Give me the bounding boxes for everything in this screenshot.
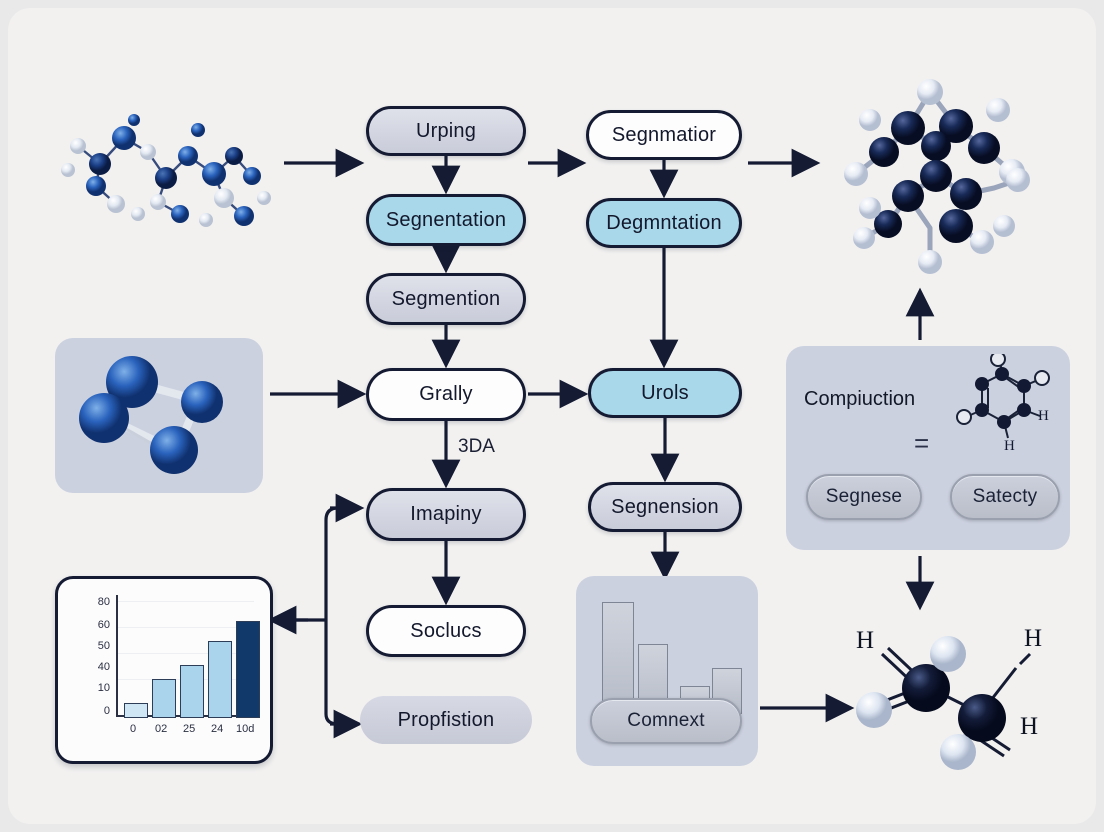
node-segnmatior[interactable]: Segnmatior [586, 110, 742, 160]
bar-0 [124, 703, 148, 718]
ytick-50: 50 [92, 640, 110, 652]
svg-text:H: H [856, 627, 874, 654]
molecule-chain-cluster [38, 86, 290, 256]
node-grally-label: Grally [419, 383, 472, 406]
ytick-80: 80 [92, 596, 110, 608]
node-segnension[interactable]: Segnension [588, 482, 742, 532]
node-segnmatior-label: Segnmatior [612, 124, 716, 147]
equals-glyph: = [914, 428, 929, 459]
xtick-3: 24 [211, 723, 223, 735]
xtick-1: 02 [155, 723, 167, 735]
node-segmention-label: Segmention [392, 288, 501, 311]
bar-chart: 80 60 50 40 10 0 0 02 25 24 10d [58, 579, 270, 761]
molecule-cage-cluster [826, 76, 1082, 292]
node-imapiny[interactable]: Imapiny [366, 488, 526, 541]
node-comnext[interactable]: Comnext [590, 698, 742, 744]
satecty-label: Satecty [973, 486, 1038, 508]
bar-4 [236, 621, 260, 718]
node-segnension-label: Segnension [611, 496, 719, 519]
xtick-4: 10d [236, 723, 254, 735]
node-degmntation-label: Degmntation [606, 212, 722, 235]
chart-axis-y [116, 595, 118, 715]
ytick-10: 10 [92, 682, 110, 694]
node-segnentation[interactable]: Segnentation [366, 194, 526, 246]
xtick-0: 0 [130, 723, 136, 735]
node-urols-label: Urols [641, 382, 689, 405]
xtick-2: 25 [183, 723, 195, 735]
molecule-ring-4 [70, 350, 250, 482]
node-propfistion[interactable]: Propfistion [360, 696, 532, 744]
node-urols[interactable]: Urols [588, 368, 742, 418]
compiuction-panel: Compiuction = H H Segnese Satec [786, 346, 1070, 550]
segnese-label: Segnese [826, 486, 902, 508]
bar-chart-card: 80 60 50 40 10 0 0 02 25 24 10d [55, 576, 273, 764]
node-urping[interactable]: Urping [366, 106, 526, 156]
svg-text:H: H [1004, 438, 1015, 454]
node-urping-label: Urping [416, 120, 476, 143]
svg-text:H: H [1038, 408, 1049, 424]
bar-2 [180, 665, 204, 718]
node-soclucs-label: Soclucs [410, 620, 481, 643]
bar-1 [152, 679, 176, 718]
edge-label-3da: 3DA [458, 436, 495, 458]
ytick-60: 60 [92, 619, 110, 631]
node-segnentation-label: Segnentation [386, 209, 506, 232]
ytick-40: 40 [92, 661, 110, 673]
benzene-structure-icon: H H [938, 354, 1062, 472]
compiuction-title: Compiuction [804, 388, 915, 411]
svg-text:H: H [1020, 713, 1038, 740]
ytick-0: 0 [92, 705, 110, 717]
bar-3 [208, 641, 232, 718]
molecule-ethylene: H H H [838, 606, 1068, 774]
node-segmention[interactable]: Segmention [366, 273, 526, 325]
svg-text:H: H [1024, 625, 1042, 652]
node-imapiny-label: Imapiny [410, 503, 481, 526]
satecty-button[interactable]: Satecty [950, 474, 1060, 520]
node-propfistion-label: Propfistion [398, 709, 495, 732]
node-grally[interactable]: Grally [366, 368, 526, 421]
segnese-button[interactable]: Segnese [806, 474, 922, 520]
node-degmntation[interactable]: Degmntation [586, 198, 742, 248]
node-soclucs[interactable]: Soclucs [366, 605, 526, 657]
node-comnext-label: Comnext [627, 710, 704, 732]
diagram-canvas: Compiuction = H H Segnese Satec [8, 8, 1096, 824]
